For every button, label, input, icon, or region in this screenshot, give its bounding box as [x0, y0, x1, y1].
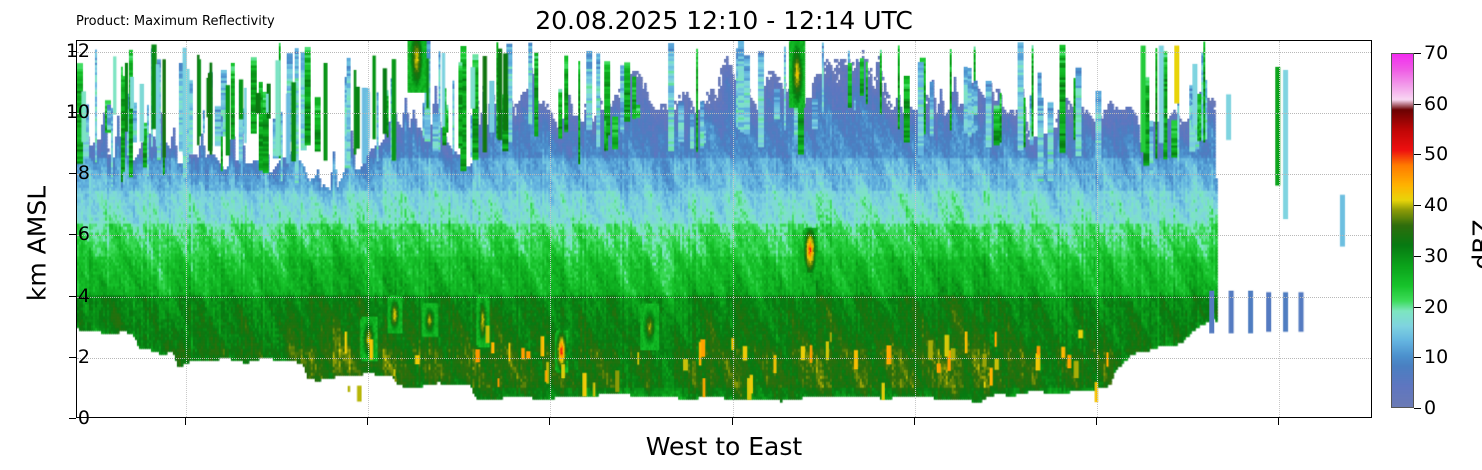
colorbar-tick-mark: [1414, 307, 1421, 308]
colorbar-gradient: [1391, 53, 1414, 408]
colorbar-tick-mark: [1414, 408, 1421, 409]
y-axis-label: km AMSL: [23, 134, 52, 354]
y-tick-label: 6: [50, 223, 90, 245]
x-tick-mark: [549, 418, 550, 425]
y-tick-label: 4: [50, 285, 90, 307]
colorbar-tick-mark: [1414, 357, 1421, 358]
colorbar-tick-label: 30: [1424, 245, 1448, 267]
y-tick-label: 0: [50, 407, 90, 429]
y-tick-label: 8: [50, 162, 90, 184]
colorbar-tick-mark: [1414, 104, 1421, 105]
colorbar-tick-label: 70: [1424, 42, 1448, 64]
colorbar-tick-label: 40: [1424, 194, 1448, 216]
colorbar: [1391, 53, 1414, 408]
reflectivity-heatmap: [77, 41, 1371, 417]
colorbar-tick-label: 0: [1424, 397, 1436, 419]
colorbar-tick-label: 50: [1424, 143, 1448, 165]
x-tick-mark: [185, 418, 186, 425]
colorbar-tick-mark: [1414, 256, 1421, 257]
x-tick-mark: [732, 418, 733, 425]
y-tick-label: 2: [50, 346, 90, 368]
x-tick-mark: [1096, 418, 1097, 425]
colorbar-tick-label: 10: [1424, 346, 1448, 368]
plot-area: [76, 40, 1372, 418]
colorbar-tick-mark: [1414, 154, 1421, 155]
colorbar-tick-mark: [1414, 205, 1421, 206]
colorbar-label: dBZ: [1468, 155, 1482, 335]
x-tick-mark: [367, 418, 368, 425]
colorbar-tick-label: 60: [1424, 93, 1448, 115]
product-label: Product: Maximum Reflectivity: [76, 14, 275, 29]
y-tick-label: 12: [50, 40, 90, 62]
radar-cross-section-figure: 20.08.2025 12:10 - 12:14 UTC Product: Ma…: [0, 0, 1482, 470]
colorbar-tick-mark: [1414, 53, 1421, 54]
y-tick-label: 10: [50, 101, 90, 123]
x-tick-mark: [1278, 418, 1279, 425]
colorbar-tick-label: 20: [1424, 296, 1448, 318]
x-axis-label: West to East: [76, 432, 1372, 461]
x-tick-mark: [914, 418, 915, 425]
